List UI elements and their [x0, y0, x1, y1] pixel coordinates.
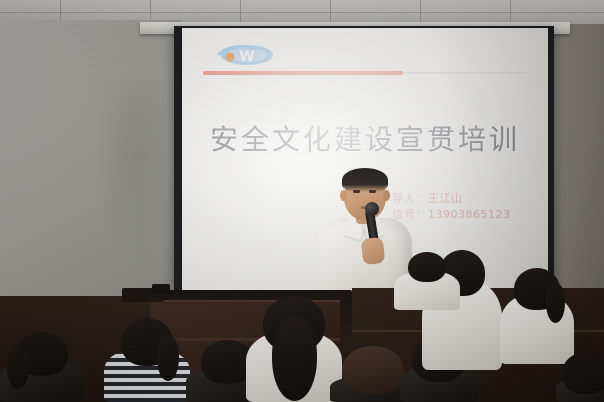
slide-faint-rule	[403, 72, 528, 74]
company-logo-icon: W	[214, 42, 276, 68]
presenter-eye-left	[353, 190, 360, 193]
svg-text:W: W	[239, 49, 254, 65]
audience-member-2	[104, 318, 190, 402]
audience-member-10	[556, 352, 604, 402]
slide-accent-rule	[203, 71, 403, 75]
audience-member-2-ponytail	[157, 335, 179, 381]
audience-member-1-ponytail	[7, 347, 29, 389]
presenter-hair	[342, 168, 388, 192]
photo-scene: W 安全文化建设宣贯培训 导人：王江山 信号：13903865123	[0, 0, 604, 402]
audience-member-4-ponytail	[272, 316, 317, 401]
contact-value-1: 王江山	[428, 192, 463, 205]
contact-value-2: 13903865123	[428, 208, 510, 221]
audience-member-9-head	[408, 252, 446, 282]
wall-smudge	[95, 80, 165, 270]
audience-member-1	[0, 332, 84, 402]
audience-member-10-head	[562, 352, 604, 394]
audio-speaker-box-small	[152, 284, 170, 294]
audience-member-9	[394, 252, 460, 310]
audience-member-4	[246, 296, 342, 402]
audience-member-5-head	[342, 346, 404, 394]
audience-member-8	[500, 268, 574, 364]
presenter-ear-right	[383, 190, 390, 201]
presenter-eye-right	[369, 190, 376, 193]
presenter-ear-left	[340, 190, 347, 201]
presenter-hand	[361, 237, 386, 265]
slide-title: 安全文化建设宣贯培训	[186, 118, 544, 158]
